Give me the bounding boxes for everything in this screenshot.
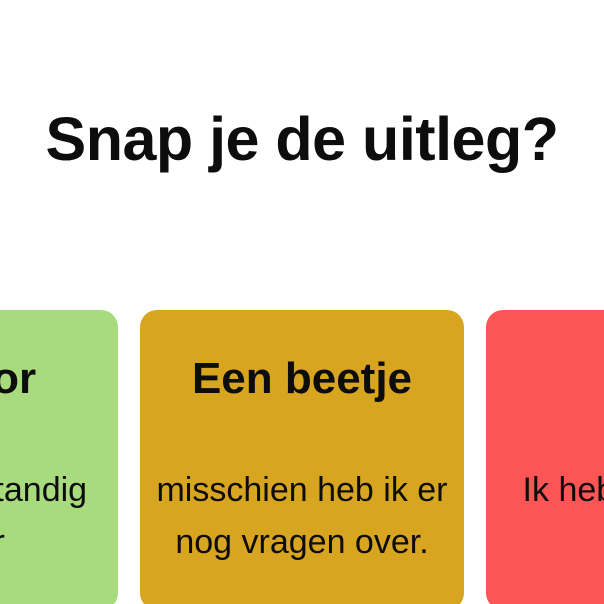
poll-option-heading: Een beetje [192, 354, 412, 404]
poll-option-description: ik kan zelfstandig verder [0, 464, 104, 568]
poll-slide: Snap je de uitleg? Ja hoor ik kan zelfst… [0, 0, 604, 604]
poll-option-description: misschien heb ik er nog vragen over. [154, 464, 449, 568]
poll-option-card-green[interactable]: Ja hoor ik kan zelfstandig verder [0, 310, 118, 604]
poll-options-row: Ja hoor ik kan zelfstandig verder Een be… [0, 310, 604, 604]
page-title: Snap je de uitleg? [0, 100, 604, 178]
poll-option-card-gold[interactable]: Een beetje misschien heb ik er nog vrage… [140, 310, 463, 604]
poll-option-description: Ik heb nog uitleg nodig [500, 464, 604, 568]
poll-option-card-red[interactable]: Nee Ik heb nog uitleg nodig [486, 310, 604, 604]
poll-option-heading: Ja hoor [0, 354, 36, 404]
